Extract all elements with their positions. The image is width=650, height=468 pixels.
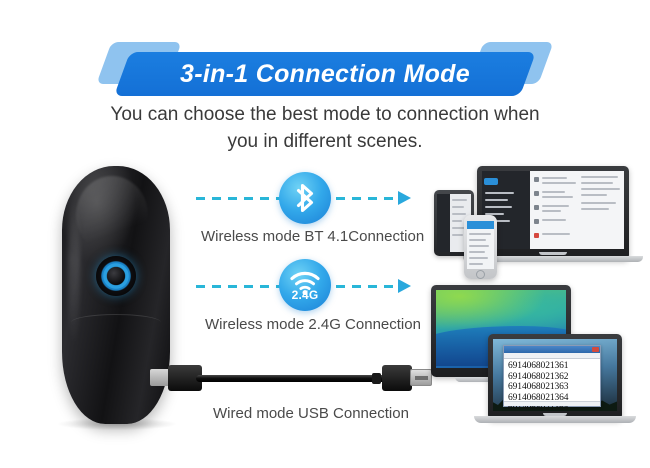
laptop-bluetooth-screen bbox=[482, 171, 624, 249]
barcode-row: 6914068021362 bbox=[508, 372, 598, 383]
laptop-usb-screen: 6914068021361 6914068021362 691406802136… bbox=[493, 339, 617, 411]
wifi-label: Wireless mode 2.4G Connection bbox=[205, 316, 421, 333]
scan-trigger-button[interactable] bbox=[96, 256, 136, 296]
usb-cable-cord bbox=[196, 375, 388, 382]
barcode-row: 6914068021361 bbox=[508, 361, 598, 372]
close-icon[interactable] bbox=[592, 347, 599, 352]
product-infographic: 3-in-1 Connection Mode You can choose th… bbox=[0, 0, 650, 468]
usb-cable-nub bbox=[372, 373, 381, 384]
scanner-seam bbox=[71, 314, 161, 331]
wifi-dash-left bbox=[196, 285, 284, 288]
scanner-gloss-top bbox=[76, 176, 148, 254]
mail-message-pane bbox=[530, 171, 624, 249]
barcode-list-window[interactable]: 6914068021361 6914068021362 691406802136… bbox=[503, 345, 601, 407]
mail-selected-row bbox=[484, 178, 498, 185]
barcode-window-titlebar bbox=[504, 346, 600, 353]
subtitle-line-1: You can choose the best mode to connecti… bbox=[95, 101, 555, 128]
laptop-usb: 6914068021361 6914068021362 691406802136… bbox=[488, 334, 622, 420]
bluetooth-label: Wireless mode BT 4.1Connection bbox=[201, 228, 424, 245]
usb-a-tip bbox=[410, 369, 432, 386]
wifi-arrowhead bbox=[398, 279, 411, 293]
barcode-window-menubar bbox=[504, 353, 600, 359]
usb-label: Wired mode USB Connection bbox=[213, 405, 409, 422]
wifi-dash-right bbox=[336, 285, 398, 288]
title-banner: 3-in-1 Connection Mode bbox=[0, 40, 650, 98]
laptop-bluetooth bbox=[477, 166, 629, 260]
laptop-bluetooth-notch bbox=[539, 252, 566, 255]
usb-a-plug bbox=[382, 365, 412, 391]
wifi-band-label: 2.4G bbox=[279, 288, 331, 302]
banner-title: 3-in-1 Connection Mode bbox=[122, 52, 528, 96]
bluetooth-arrowhead bbox=[398, 191, 411, 205]
subtitle-block: You can choose the best mode to connecti… bbox=[95, 101, 555, 155]
wifi-icon: 2.4G bbox=[279, 259, 331, 311]
phone-bluetooth-screen bbox=[467, 221, 494, 269]
bluetooth-icon bbox=[279, 172, 331, 224]
subtitle-line-2: you in different scenes. bbox=[95, 128, 555, 155]
barcode-row: 6914068021363 bbox=[508, 382, 598, 393]
bluetooth-dash-right bbox=[336, 197, 398, 200]
scan-trigger-core bbox=[107, 267, 125, 285]
phone-home-button[interactable] bbox=[476, 270, 485, 279]
barcode-window-statusbar bbox=[504, 401, 600, 406]
laptop-usb-base bbox=[474, 416, 636, 423]
phone-bluetooth bbox=[464, 215, 497, 279]
bluetooth-dash-left bbox=[196, 197, 284, 200]
